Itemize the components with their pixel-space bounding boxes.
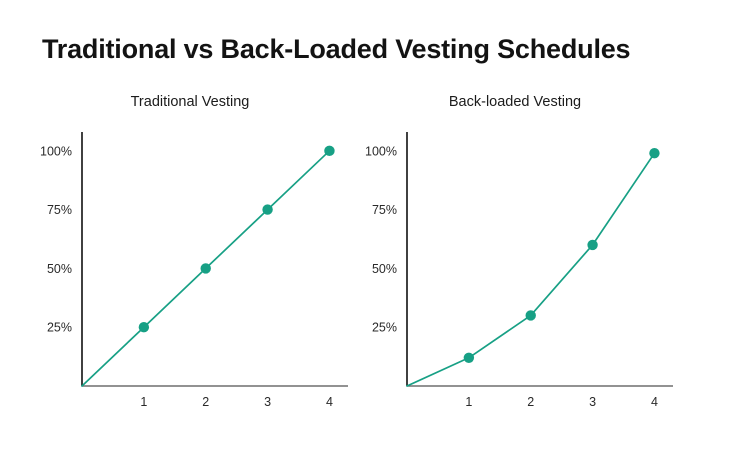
y-axis-tick-label: 75%	[47, 203, 72, 217]
plot-area-backloaded: 25%50%75%100%1234	[345, 120, 685, 420]
plot-area-traditional: 25%50%75%100%1234	[20, 120, 360, 420]
x-axis-tick-label: 3	[589, 395, 596, 409]
data-point-marker	[587, 240, 597, 250]
y-axis-tick-label: 75%	[372, 203, 397, 217]
data-point-marker	[324, 146, 334, 156]
data-point-marker	[139, 322, 149, 332]
y-axis-tick-label: 100%	[365, 144, 397, 158]
data-point-marker	[526, 310, 536, 320]
chart-svg-traditional: 25%50%75%100%1234	[20, 120, 360, 420]
chart-title-traditional: Traditional Vesting	[20, 94, 360, 110]
x-axis-tick-label: 4	[651, 395, 658, 409]
data-series-line	[407, 153, 654, 386]
y-axis-tick-label: 25%	[47, 321, 72, 335]
data-point-marker	[649, 148, 659, 158]
x-axis-tick-label: 3	[264, 395, 271, 409]
data-point-marker	[262, 204, 272, 214]
chart-title-backloaded: Back-loaded Vesting	[345, 94, 685, 110]
y-axis-tick-label: 100%	[40, 144, 72, 158]
data-point-marker	[464, 353, 474, 363]
y-axis-tick-label: 25%	[372, 321, 397, 335]
x-axis-tick-label: 2	[527, 395, 534, 409]
y-axis-tick-label: 50%	[47, 262, 72, 276]
x-axis-tick-label: 4	[326, 395, 333, 409]
chart-svg-backloaded: 25%50%75%100%1234	[345, 120, 685, 420]
x-axis-tick-label: 2	[202, 395, 209, 409]
x-axis-tick-label: 1	[465, 395, 472, 409]
x-axis-tick-label: 1	[140, 395, 147, 409]
page-title: Traditional vs Back-Loaded Vesting Sched…	[42, 34, 630, 65]
y-axis-tick-label: 50%	[372, 262, 397, 276]
data-point-marker	[201, 263, 211, 273]
